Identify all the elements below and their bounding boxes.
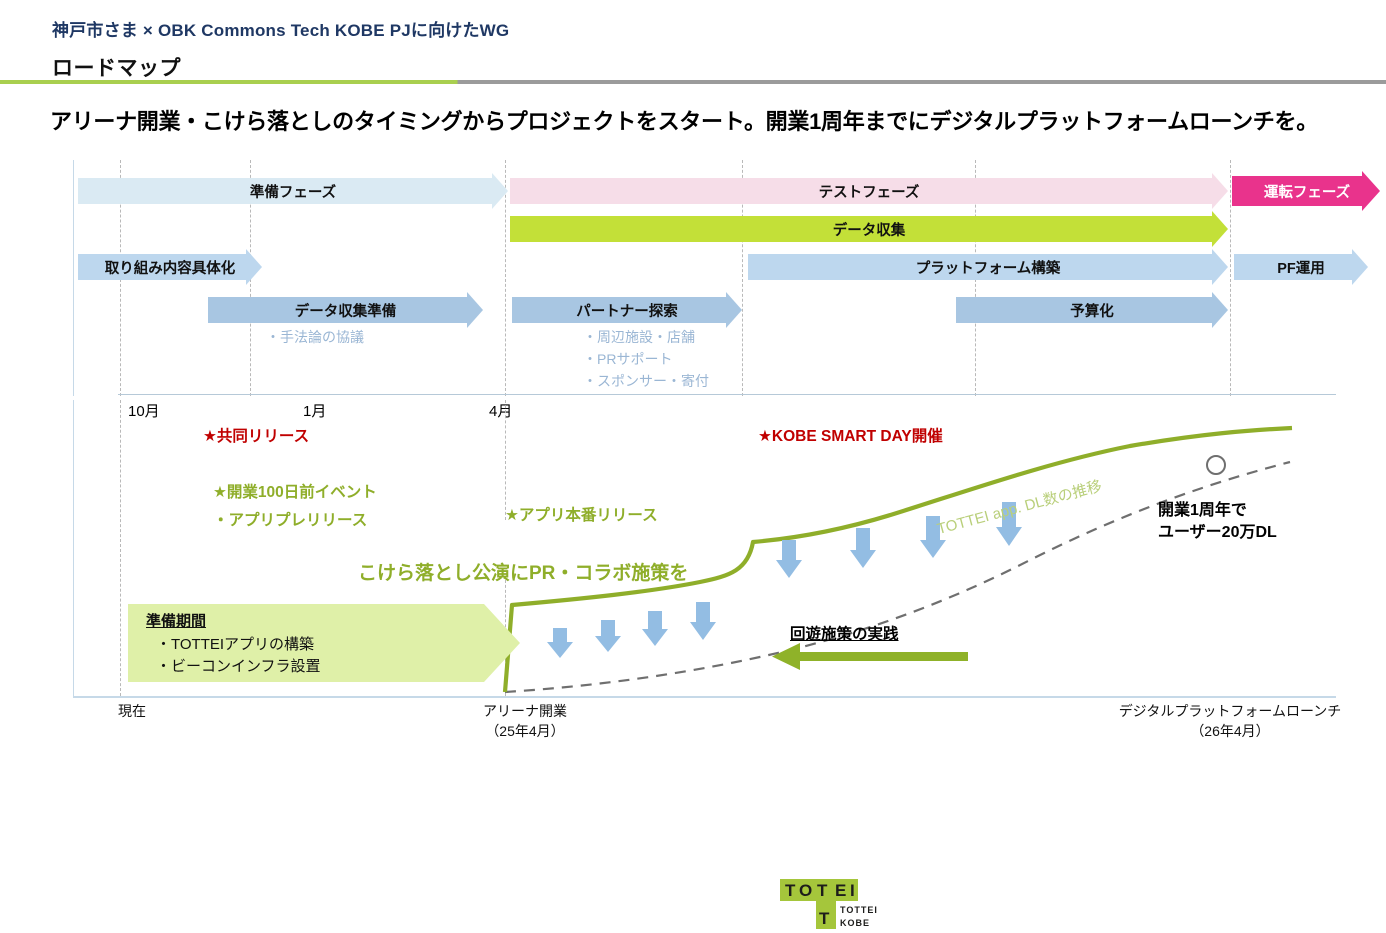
bar-operation-phase[interactable]: 運転フェーズ <box>1232 176 1382 206</box>
tottei-logo: T O T T E I TOTTEI KOBE <box>778 877 896 933</box>
bar-data-prep[interactable]: データ収集準備 <box>208 297 483 323</box>
bottom-label-platform-launch: デジタルプラットフォームローンチ （26年4月） <box>1090 702 1370 741</box>
bottom-label-arena-open: アリーナ開業 （25年4月） <box>445 702 605 741</box>
svg-text:T: T <box>819 909 830 928</box>
note-sponsor: ・スポンサー・寄付 <box>583 372 709 391</box>
bar-platform-build[interactable]: プラットフォーム構築 <box>748 254 1228 280</box>
svg-text:T: T <box>817 881 828 900</box>
bar-label: データ収集 <box>833 219 906 240</box>
gantt-axis <box>73 160 74 396</box>
svg-text:E: E <box>835 881 846 900</box>
svg-text:KOBE: KOBE <box>840 918 870 928</box>
month-axis-rule <box>118 394 1336 395</box>
bar-budgeting[interactable]: 予算化 <box>956 297 1228 323</box>
svg-text:T: T <box>785 881 796 900</box>
prep-period-title: 準備期間 <box>146 611 206 633</box>
bar-initiative-definition[interactable]: 取り組み内容具体化 <box>78 254 262 280</box>
goal-note-line1: 開業1周年で <box>1158 500 1247 522</box>
gridline <box>1230 160 1231 396</box>
svg-text:TOTTEI: TOTTEI <box>840 905 878 915</box>
note-facilities: ・周辺施設・店舗 <box>583 328 695 347</box>
bar-preparation-phase[interactable]: 準備フェーズ <box>78 178 508 204</box>
note-pr-support: ・PRサポート <box>583 350 672 369</box>
page-title: ロードマップ <box>52 52 181 82</box>
header-subtitle: 神戸市さま × OBK Commons Tech KOBE PJに向けたWG <box>52 16 509 41</box>
bar-label: データ収集準備 <box>295 300 397 321</box>
note-methodology: ・手法論の協議 <box>266 328 364 347</box>
bar-label: テストフェーズ <box>819 181 920 202</box>
bar-label: 予算化 <box>1070 300 1114 321</box>
bar-label: PF運用 <box>1277 257 1325 278</box>
retention-label: 回遊施策の実践 <box>790 622 899 644</box>
bar-label: 準備フェーズ <box>250 181 336 202</box>
header-rule <box>0 80 1386 84</box>
lead-statement: アリーナ開業・こけら落としのタイミングからプロジェクトをスタート。開業1周年まで… <box>50 104 1318 136</box>
bar-label: 取り組み内容具体化 <box>105 257 236 278</box>
bar-label: 運転フェーズ <box>1264 181 1350 202</box>
prep-title-text: 準備期間 <box>146 613 206 630</box>
goal-marker <box>1207 456 1225 474</box>
bar-data-collection[interactable]: データ収集 <box>510 216 1228 242</box>
kokera-note: こけら落とし公演にPR・コラボ施策を <box>358 558 688 585</box>
prep-period-item-2: ・ビーコンインフラ設置 <box>156 656 321 678</box>
phase-gantt: 準備フェーズ テストフェーズ 運転フェーズ データ収集 取り組み内容具体化 プラ… <box>0 160 1386 400</box>
bottom-label-line2: （26年4月） <box>1090 722 1370 742</box>
prep-period-item-1: ・TOTTEIアプリの構築 <box>156 634 314 656</box>
bottom-label-line1: 現在 <box>72 702 192 722</box>
dl-growth-chart: ★共同リリース ★KOBE SMART DAY開催 ★開業100日前イベント ・… <box>0 400 1386 710</box>
bottom-label-line1: アリーナ開業 <box>445 702 605 722</box>
bar-label: プラットフォーム構築 <box>916 257 1061 278</box>
svg-text:I: I <box>850 881 855 900</box>
bar-label: パートナー探索 <box>576 300 678 321</box>
bottom-label-line1: デジタルプラットフォームローンチ <box>1090 702 1370 722</box>
svg-text:O: O <box>799 881 812 900</box>
goal-note-line2: ユーザー20万DL <box>1158 522 1277 544</box>
bottom-label-now: 現在 <box>72 702 192 722</box>
retention-arrow <box>772 643 968 670</box>
bar-pf-operation[interactable]: PF運用 <box>1234 254 1368 280</box>
bar-test-phase[interactable]: テストフェーズ <box>510 178 1228 204</box>
up-arrow-group-1 <box>547 602 716 658</box>
bar-partner-search[interactable]: パートナー探索 <box>512 297 742 323</box>
bottom-label-line2: （25年4月） <box>445 722 605 742</box>
